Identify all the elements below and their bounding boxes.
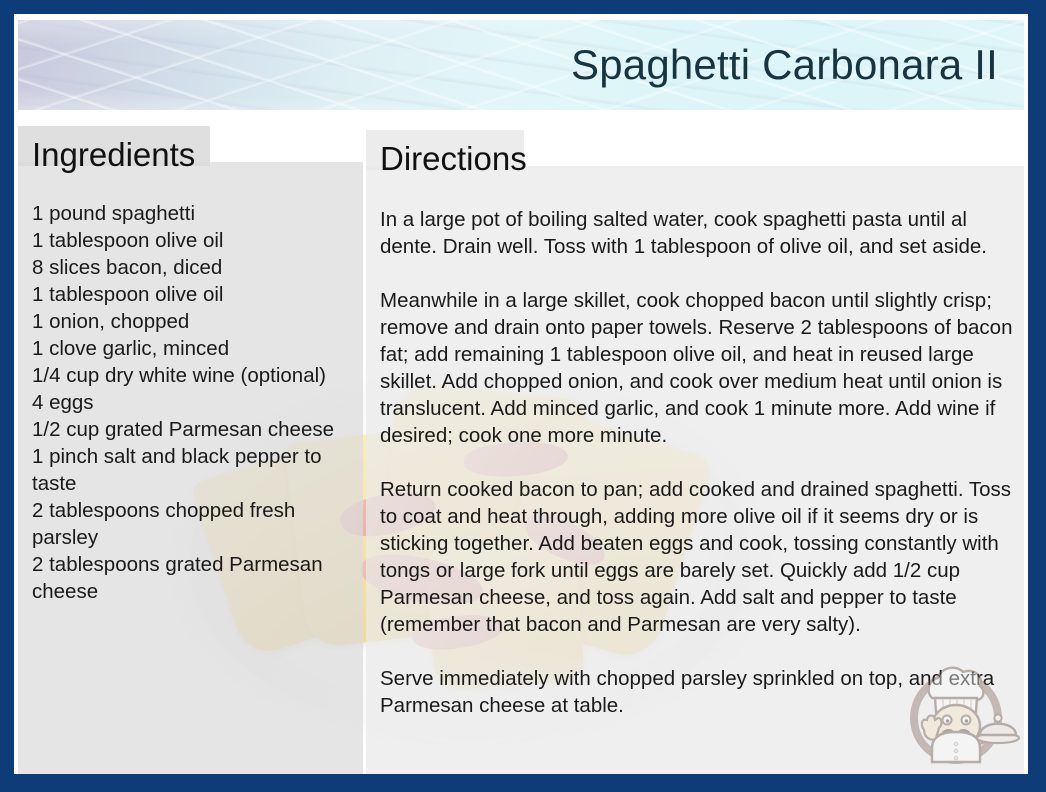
ingredient-item: 1 pinch salt and black pepper to taste: [32, 443, 358, 497]
ingredient-item: 1 clove garlic, minced: [32, 335, 358, 362]
ingredient-item: 8 slices bacon, diced: [32, 254, 358, 281]
ingredient-item: 1 pound spaghetti: [32, 200, 358, 227]
ingredient-item: 1 tablespoon olive oil: [32, 227, 358, 254]
ingredients-heading: Ingredients: [32, 136, 195, 174]
ingredient-item: 1/4 cup dry white wine (optional): [32, 362, 358, 389]
ingredients-list-ul: 1 pound spaghetti 1 tablespoon olive oil…: [32, 200, 358, 605]
direction-paragraph: Meanwhile in a large skillet, cook chopp…: [380, 287, 1024, 449]
ingredients-list: 1 pound spaghetti 1 tablespoon olive oil…: [32, 200, 358, 605]
directions-heading: Directions: [380, 140, 527, 178]
header-banner: Spaghetti Carbonara II: [18, 20, 1024, 110]
ingredient-item: 4 eggs: [32, 389, 358, 416]
ingredient-item: 2 tablespoons grated Parmesan cheese: [32, 551, 358, 605]
ingredient-item: 2 tablespoons chopped fresh parsley: [32, 497, 358, 551]
ingredient-item: 1 onion, chopped: [32, 308, 358, 335]
page-title: Spaghetti Carbonara II: [571, 41, 998, 89]
directions-body: In a large pot of boiling salted water, …: [380, 206, 1024, 719]
ingredient-item: 1/2 cup grated Parmesan cheese: [32, 416, 358, 443]
direction-paragraph: Serve immediately with chopped parsley s…: [380, 665, 1024, 719]
direction-paragraph: In a large pot of boiling salted water, …: [380, 206, 1024, 260]
direction-paragraph: Return cooked bacon to pan; add cooked a…: [380, 476, 1024, 638]
card-inner: Spaghetti Carbonara II Ingredients Direc…: [14, 14, 1028, 774]
recipe-card: Spaghetti Carbonara II Ingredients Direc…: [0, 0, 1046, 792]
ingredient-item: 1 tablespoon olive oil: [32, 281, 358, 308]
